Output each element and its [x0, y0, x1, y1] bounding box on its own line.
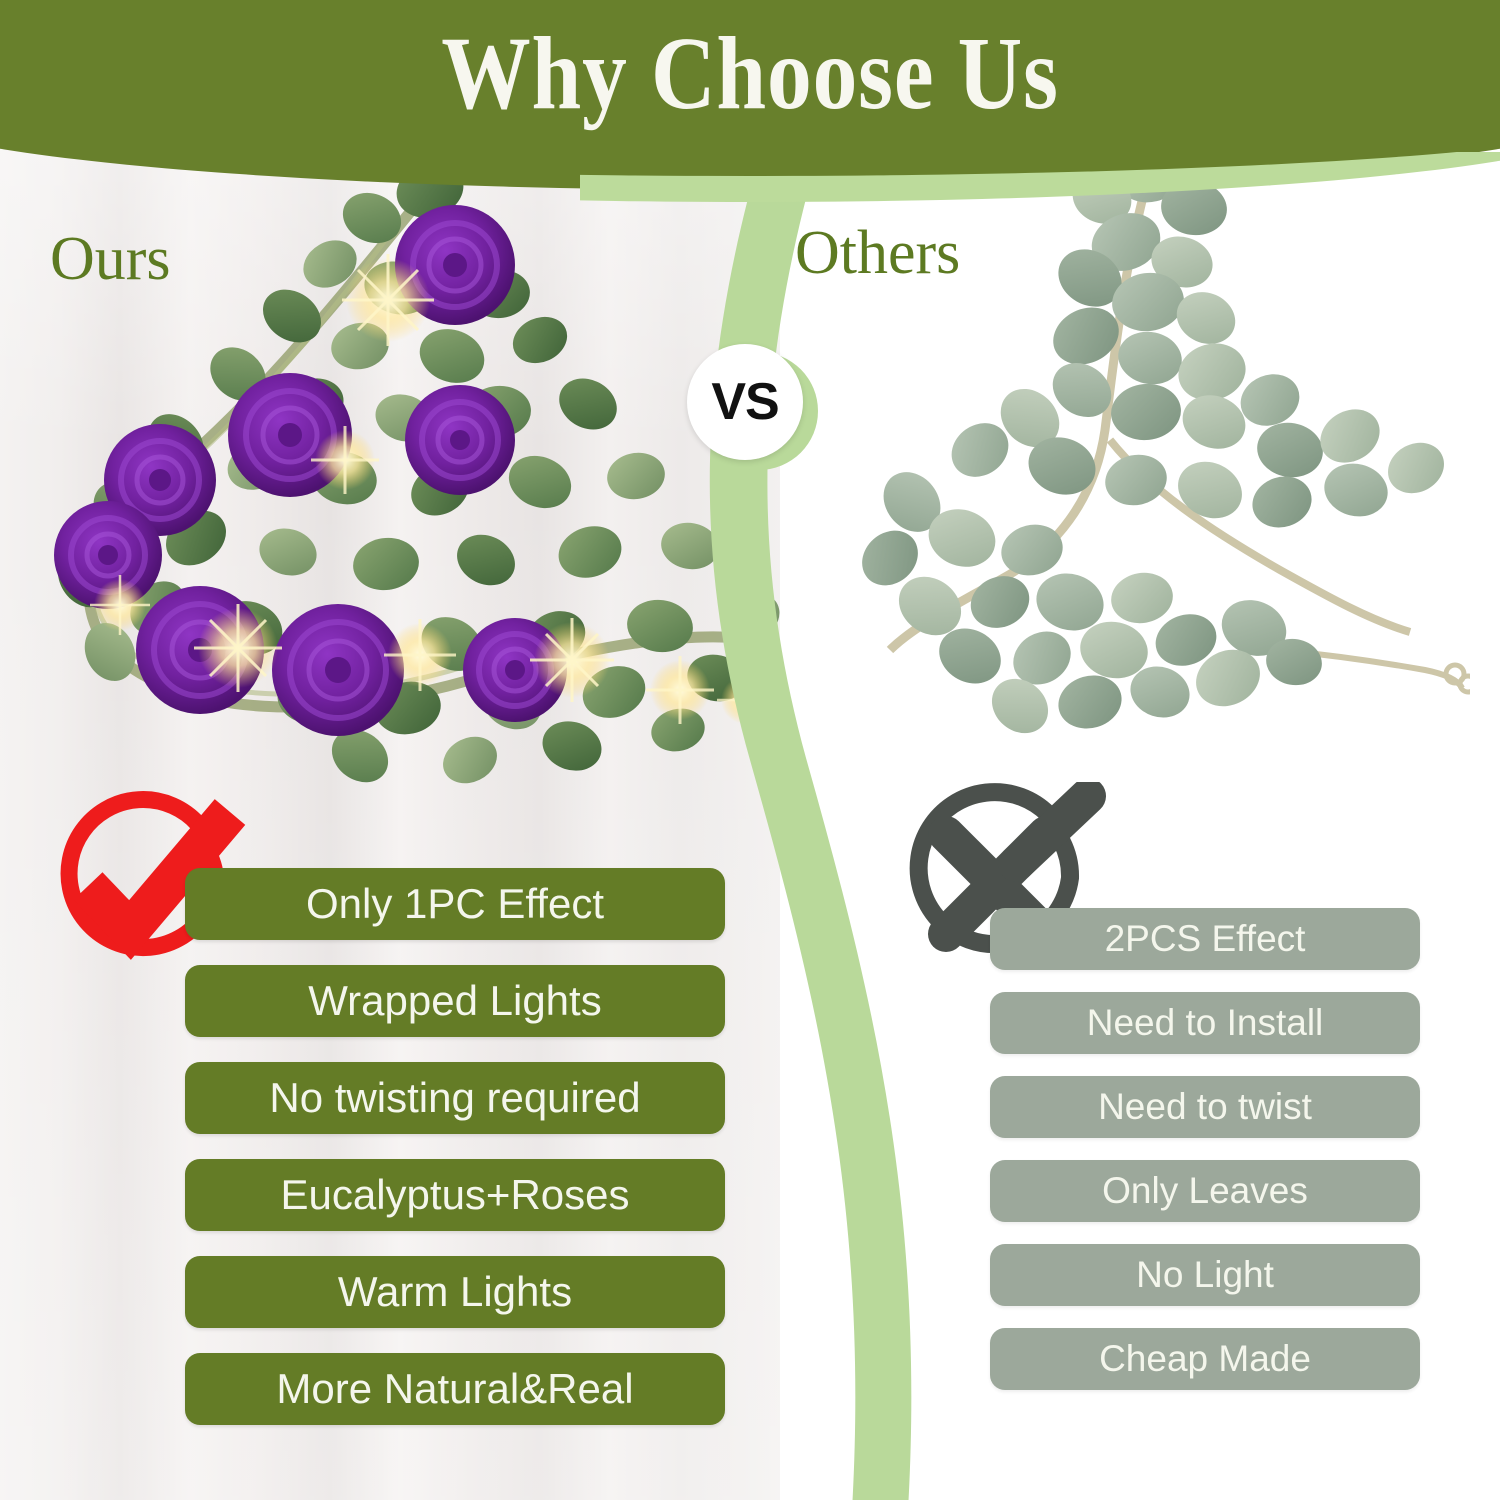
others-feature-pill[interactable]: Cheap Made: [990, 1328, 1420, 1390]
why-choose-us-infographic: Why Choose Us Ours Others VS Only 1PC Ef…: [0, 0, 1500, 1500]
ours-column-label: Ours: [50, 228, 171, 290]
ours-feature-list: Only 1PC Effect Wrapped Lights No twisti…: [185, 868, 725, 1425]
others-feature-pill[interactable]: 2PCS Effect: [990, 908, 1420, 970]
others-feature-list: 2PCS Effect Need to Install Need to twis…: [990, 908, 1420, 1390]
vs-badge-label: VS: [711, 372, 778, 432]
ours-feature-pill[interactable]: Eucalyptus+Roses: [185, 1159, 725, 1231]
ours-feature-pill[interactable]: Warm Lights: [185, 1256, 725, 1328]
others-feature-pill[interactable]: Need to twist: [990, 1076, 1420, 1138]
others-feature-pill[interactable]: Only Leaves: [990, 1160, 1420, 1222]
ours-feature-pill[interactable]: More Natural&Real: [185, 1353, 725, 1425]
ours-feature-pill[interactable]: Wrapped Lights: [185, 965, 725, 1037]
vs-badge: VS: [687, 344, 803, 460]
others-feature-pill[interactable]: No Light: [990, 1244, 1420, 1306]
ours-feature-pill[interactable]: No twisting required: [185, 1062, 725, 1134]
ours-feature-pill[interactable]: Only 1PC Effect: [185, 868, 725, 940]
others-feature-pill[interactable]: Need to Install: [990, 992, 1420, 1054]
others-column-label: Others: [795, 222, 960, 284]
page-title: Why Choose Us: [2, 22, 1498, 126]
